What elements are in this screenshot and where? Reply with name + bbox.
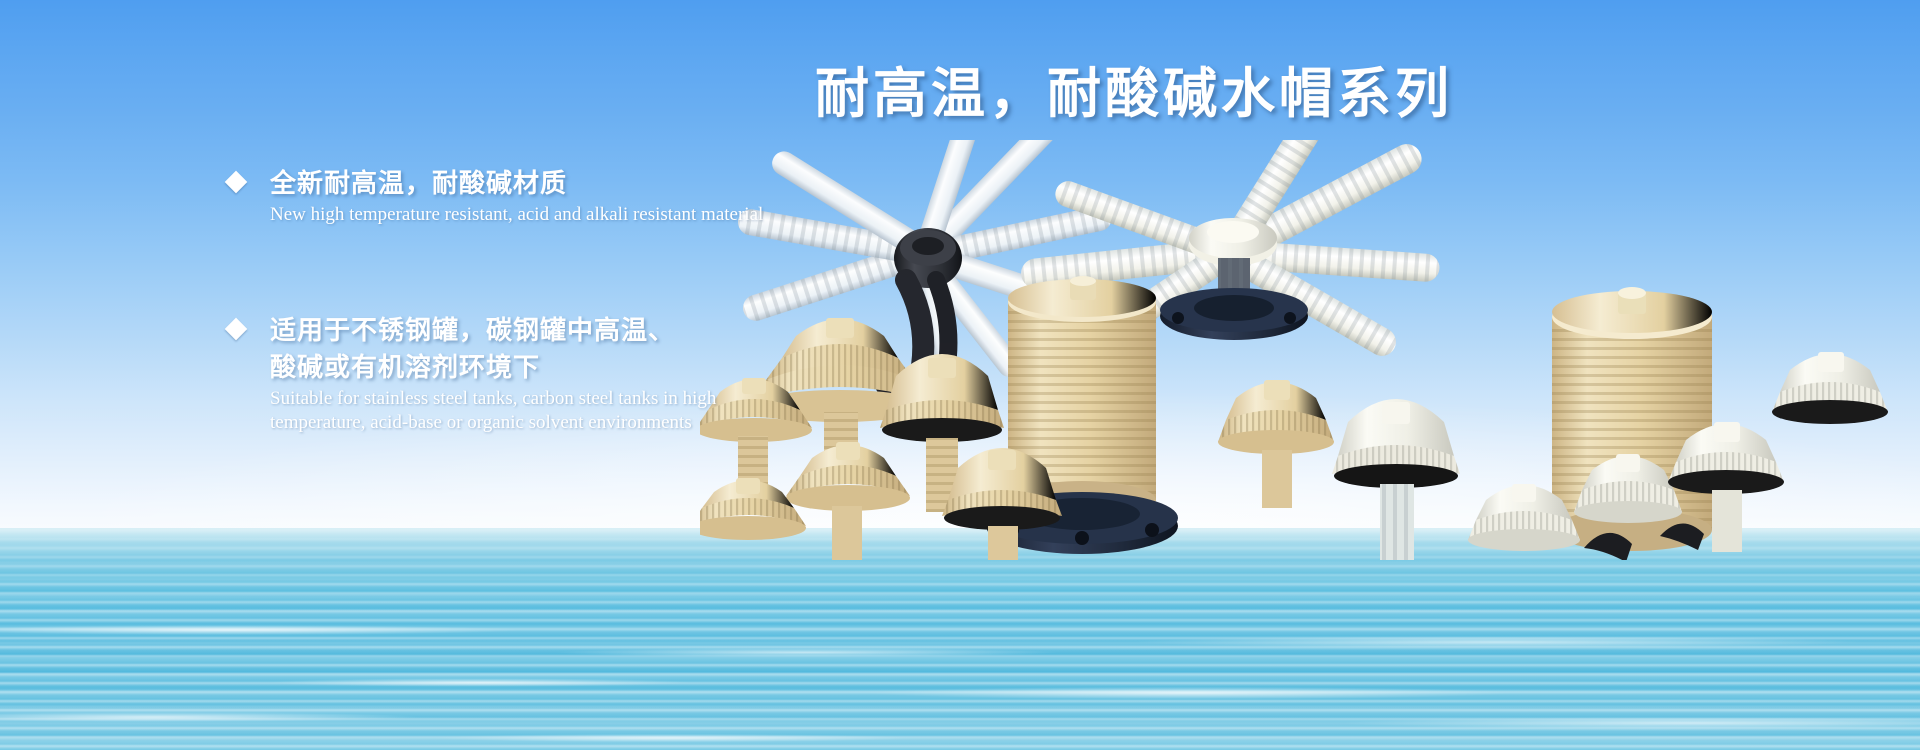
feature-2-en-line-1: Suitable for stainless steel tanks, carb… — [270, 387, 716, 411]
feature-2-heading: 适用于不锈钢罐，碳钢罐中高温、 酸碱或有机溶剂环境下 — [228, 312, 716, 386]
white-dome-nozzle-glass — [1332, 399, 1460, 560]
banner-headline: 耐高温，耐酸碱水帽系列 — [815, 62, 1453, 127]
feature-1-en: New high temperature resistant, acid and… — [270, 203, 763, 227]
diamond-bullet-icon — [225, 171, 248, 194]
beige-ribbed-cap-right — [1218, 380, 1334, 508]
feature-item-2: 适用于不锈钢罐，碳钢罐中高温、 酸碱或有机溶剂环境下 Suitable for … — [228, 312, 716, 435]
feature-2-en: Suitable for stainless steel tanks, carb… — [270, 387, 716, 436]
feature-2-cn: 适用于不锈钢罐，碳钢罐中高温、 酸碱或有机溶剂环境下 — [270, 312, 675, 386]
product-cluster-image — [700, 140, 1920, 560]
beige-ribbed-cap-d — [700, 478, 806, 540]
feature-item-1: 全新耐高温，耐酸碱材质 New high temperature resista… — [228, 165, 763, 227]
water-ripples-highlights — [0, 600, 1920, 750]
white-ribbed-cap-d — [1772, 352, 1888, 424]
feature-1-cn: 全新耐高温，耐酸碱材质 — [270, 165, 567, 202]
feature-1-heading: 全新耐高温，耐酸碱材质 — [228, 165, 763, 202]
promo-banner: 耐高温，耐酸碱水帽系列 全新耐高温，耐酸碱材质 New high tempera… — [0, 0, 1920, 750]
feature-2-cn-line-2: 酸碱或有机溶剂环境下 — [270, 349, 675, 386]
feature-1-en-line-1: New high temperature resistant, acid and… — [270, 203, 763, 227]
feature-2-en-line-2: temperature, acid-base or organic solven… — [270, 411, 716, 435]
feature-2-cn-line-1: 适用于不锈钢罐，碳钢罐中高温、 — [270, 312, 675, 349]
diamond-bullet-icon — [225, 318, 248, 341]
feature-1-cn-line-1: 全新耐高温，耐酸碱材质 — [270, 165, 567, 202]
beige-ribbed-cap-c — [786, 442, 910, 560]
